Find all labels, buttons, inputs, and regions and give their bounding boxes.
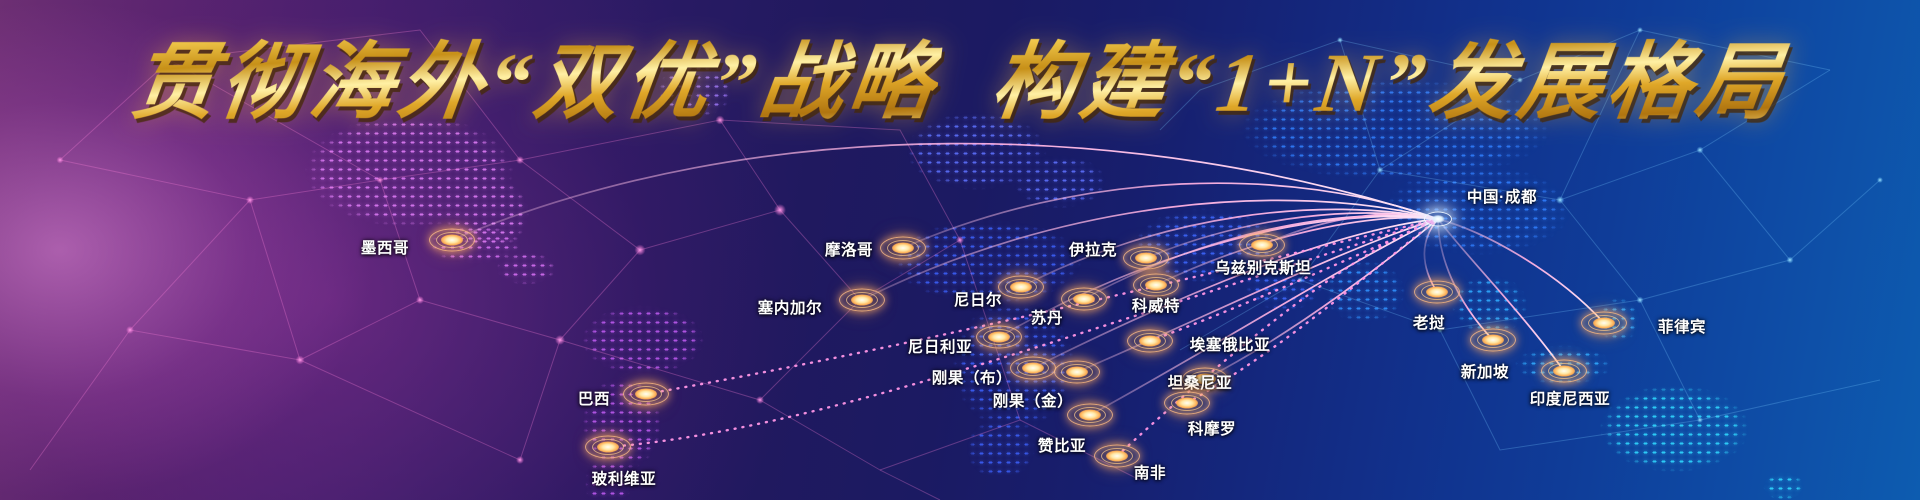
city-13-label: 科威特 [1132,294,1180,316]
node-core-icon [851,295,873,306]
route-arcs [0,0,1920,500]
node-core-icon [441,235,463,246]
city-12-node[interactable] [1124,247,1168,269]
city-20-label: 印度尼西亚 [1530,387,1611,409]
city-15-label: 埃塞俄比亚 [1190,333,1271,355]
node-core-icon [1553,366,1575,377]
city-11-node[interactable] [1095,445,1139,467]
city-1-node[interactable] [624,383,668,405]
city-10-label: 赞比亚 [1038,434,1086,456]
city-6-node[interactable] [977,326,1021,348]
city-5-node[interactable] [999,276,1043,298]
city-20-node[interactable] [1542,360,1586,382]
city-3-node[interactable] [881,237,925,259]
city-5-label: 尼日尔 [954,288,1002,310]
node-core-icon [597,442,619,453]
node-core-icon [1176,398,1198,409]
city-0-label: 墨西哥 [361,236,409,258]
node-core-icon [1010,282,1032,293]
city-3-label: 摩洛哥 [825,238,873,260]
city-17-node[interactable] [1165,392,1209,414]
city-13-node[interactable] [1134,274,1178,296]
city-4-label: 塞内加尔 [758,296,822,318]
city-2-node[interactable] [586,436,630,458]
city-8-label: 刚果（布） [932,366,1013,388]
node-core-icon [1139,336,1161,347]
city-18-label: 老挝 [1413,311,1445,333]
city-0-node[interactable] [430,229,474,251]
city-21-node[interactable] [1582,312,1626,334]
city-9-node[interactable] [1055,361,1099,383]
node-core-icon [1066,367,1088,378]
city-21-label: 菲律宾 [1658,315,1706,337]
node-core-icon [1135,253,1157,264]
node-core-icon [635,389,657,400]
banner-root: 中国·成都墨西哥巴西玻利维亚摩洛哥塞内加尔尼日尔尼日利亚苏丹刚果（布）刚果（金）… [0,0,1920,500]
node-core-icon [1432,215,1445,223]
city-10-node[interactable] [1068,404,1112,426]
city-18-node[interactable] [1415,281,1459,303]
node-core-icon [1145,280,1167,291]
city-9-label: 刚果（金） [993,389,1074,411]
city-16-label: 坦桑尼亚 [1168,371,1232,393]
node-core-icon [1079,410,1101,421]
city-hub-node[interactable] [1416,208,1460,230]
city-11-label: 南非 [1134,461,1166,483]
city-7-label: 苏丹 [1031,306,1063,328]
city-hub-label: 中国·成都 [1467,185,1537,207]
city-4-node[interactable] [840,289,884,311]
city-15-node[interactable] [1128,330,1172,352]
city-19-node[interactable] [1471,329,1515,351]
node-core-icon [1073,294,1095,305]
city-8-node[interactable] [1011,357,1055,379]
node-core-icon [892,243,914,254]
city-12-label: 伊拉克 [1069,238,1117,260]
city-17-label: 科摩罗 [1188,417,1236,439]
node-core-icon [1022,363,1044,374]
node-core-icon [1593,318,1615,329]
city-7-node[interactable] [1062,288,1106,310]
city-14-label: 乌兹别克斯坦 [1215,256,1312,278]
node-core-icon [1426,287,1448,298]
node-core-icon [1482,335,1504,346]
city-19-label: 新加坡 [1461,360,1509,382]
city-6-label: 尼日利亚 [908,335,972,357]
city-1-label: 巴西 [578,387,610,409]
city-14-node[interactable] [1240,234,1284,256]
node-core-icon [988,332,1010,343]
city-2-label: 玻利维亚 [592,467,656,489]
node-core-icon [1251,240,1273,251]
node-core-icon [1106,451,1128,462]
